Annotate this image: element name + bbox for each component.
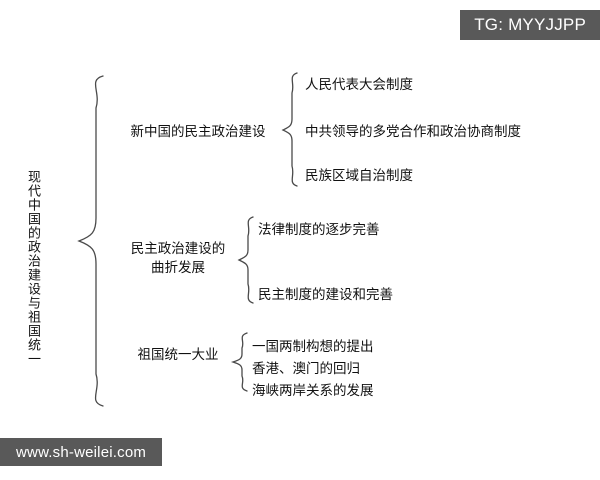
branch-0-brace <box>283 73 297 186</box>
root-brace <box>79 76 103 406</box>
leaf-item: 中共领导的多党合作和政治协商制度 <box>305 123 521 141</box>
leaf-item: 一国两制构想的提出 <box>252 338 374 356</box>
root-label: 现代中国的政治建设与祖国统一 <box>18 170 40 366</box>
brace-layer <box>0 0 600 480</box>
leaf-item: 民主制度的建设和完善 <box>258 286 393 304</box>
leaf-item: 人民代表大会制度 <box>305 76 413 94</box>
branch-1-brace <box>239 217 253 303</box>
tg-watermark-badge: TG: MYYJJPP <box>460 10 600 40</box>
leaf-item: 法律制度的逐步完善 <box>258 221 380 239</box>
branch-title-0: 新中国的民主政治建设 <box>118 123 278 142</box>
leaf-item: 民族区域自治制度 <box>305 167 413 185</box>
branch-2-brace <box>233 333 247 391</box>
diagram-canvas: 现代中国的政治建设与祖国统一 新中国的民主政治建设 人民代表大会制度 中共领导的… <box>0 0 600 480</box>
branch-title-1-line1: 民主政治建设的 <box>122 240 234 259</box>
branch-title-1-line2: 曲折发展 <box>122 259 234 278</box>
branch-title-2: 祖国统一大业 <box>122 346 234 365</box>
leaf-item: 香港、澳门的回归 <box>252 360 360 378</box>
site-watermark-badge: www.sh-weilei.com <box>0 438 162 466</box>
leaf-item: 海峡两岸关系的发展 <box>252 382 374 400</box>
branch-title-1: 民主政治建设的 曲折发展 <box>122 240 234 278</box>
